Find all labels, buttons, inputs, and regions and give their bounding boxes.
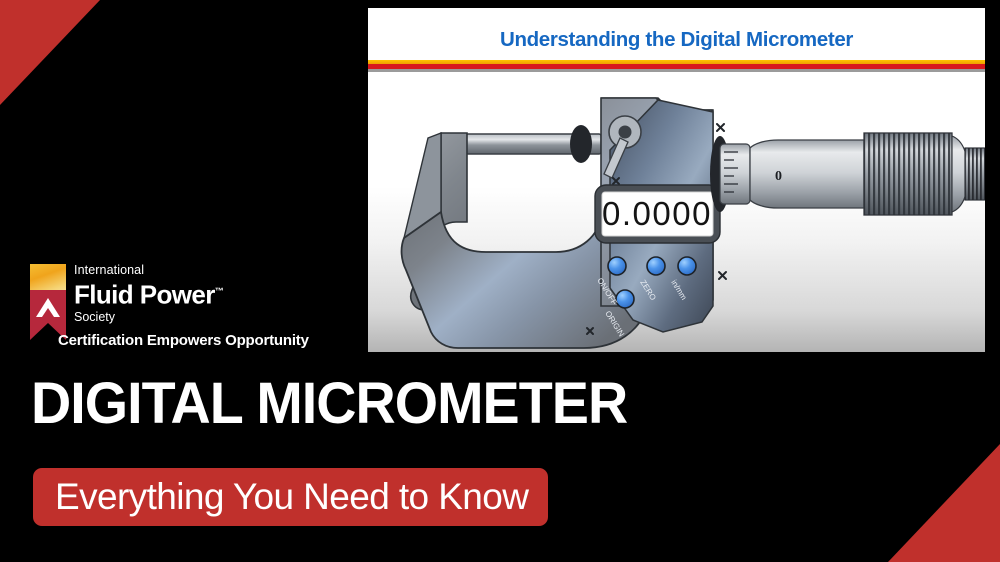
svg-text:0.0000: 0.0000: [602, 195, 712, 232]
logo-fluid-power-text: Fluid Power: [74, 280, 215, 310]
slide-thumbnail[interactable]: Understanding the Digital Micrometer: [368, 8, 985, 352]
svg-text:0: 0: [775, 169, 782, 184]
ifps-logo-text: International Fluid Power™ Society: [74, 264, 314, 324]
logo-line-fluid-power: Fluid Power™: [74, 278, 314, 309]
subtitle-text: Everything You Need to Know: [55, 477, 528, 517]
digital-micrometer-illustration: 0.0000 ON/OFF ZERO in/mm ORIGIN 0: [368, 70, 985, 352]
trademark-symbol: ™: [215, 286, 223, 296]
page-title: DIGITAL MICROMETER: [31, 374, 627, 434]
top-left-red-corner: [0, 0, 100, 105]
logo-line-society: Society: [74, 310, 314, 324]
ifps-logo-mark: [30, 264, 66, 340]
brand-tagline: Certification Empowers Opportunity: [58, 332, 309, 349]
slide-title: Understanding the Digital Micrometer: [368, 28, 985, 52]
subtitle-banner: Everything You Need to Know: [33, 468, 548, 526]
logo-line-international: International: [74, 264, 314, 277]
bottom-right-red-corner: [888, 444, 1000, 562]
